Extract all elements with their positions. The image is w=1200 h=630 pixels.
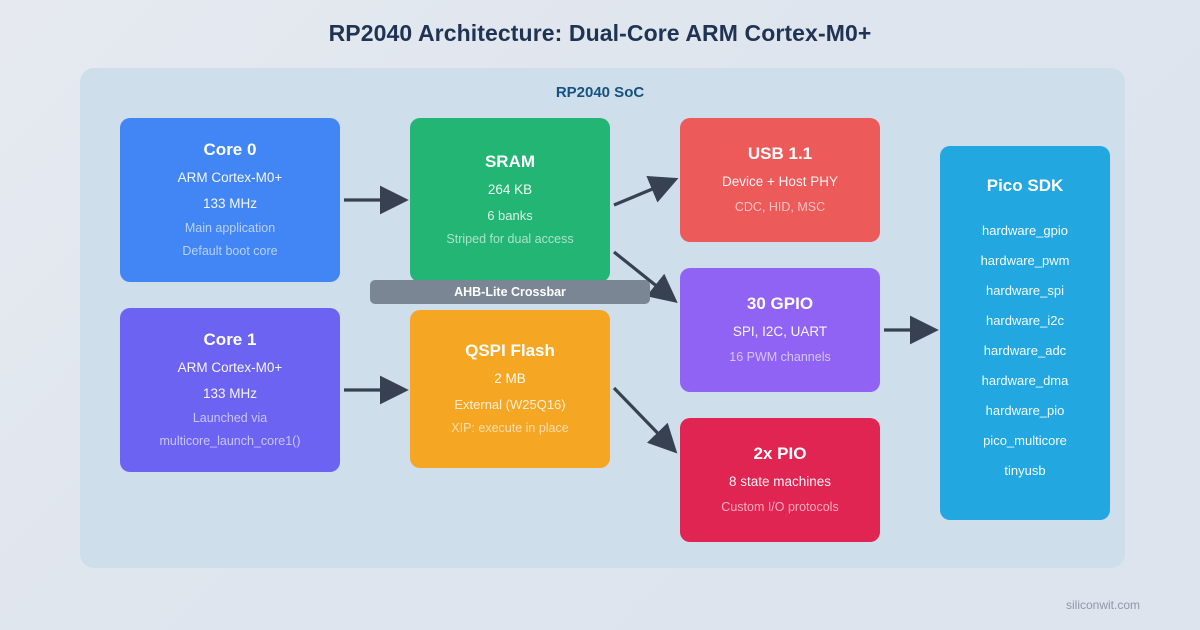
soc-label: RP2040 SoC bbox=[0, 84, 1200, 101]
pico-sdk-item[interactable]: hardware_i2c bbox=[981, 314, 1070, 327]
block-core0-line2: 133 MHz bbox=[203, 197, 257, 212]
block-core1[interactable]: Core 1 ARM Cortex-M0+ 133 MHz Launched v… bbox=[120, 308, 340, 472]
block-gpio-note1: 16 PWM channels bbox=[729, 351, 830, 365]
block-qspi-line1: 2 MB bbox=[494, 372, 526, 387]
pico-sdk-item[interactable]: pico_multicore bbox=[981, 434, 1070, 447]
block-qspi-line2: External (W25Q16) bbox=[454, 398, 565, 412]
block-qspi-note1: XIP: execute in place bbox=[451, 422, 568, 436]
block-sram[interactable]: SRAM 264 KB 6 banks Striped for dual acc… bbox=[410, 118, 610, 282]
block-sram-note1: Striped for dual access bbox=[446, 233, 573, 247]
block-usb[interactable]: USB 1.1 Device + Host PHY CDC, HID, MSC bbox=[680, 118, 880, 242]
pico-sdk-title: Pico SDK bbox=[987, 176, 1064, 196]
block-sram-line2: 6 banks bbox=[487, 209, 533, 223]
pico-sdk-item[interactable]: tinyusb bbox=[981, 464, 1070, 477]
block-core0-note1: Main application bbox=[185, 222, 275, 236]
block-gpio[interactable]: 30 GPIO SPI, I2C, UART 16 PWM channels bbox=[680, 268, 880, 392]
pico-sdk-item[interactable]: hardware_gpio bbox=[981, 224, 1070, 237]
block-core1-note2: multicore_launch_core1() bbox=[159, 435, 300, 449]
block-qspi-title: QSPI Flash bbox=[465, 342, 555, 361]
block-core0-line1: ARM Cortex-M0+ bbox=[178, 171, 283, 186]
block-core1-line2: 133 MHz bbox=[203, 387, 257, 402]
block-core0-title: Core 0 bbox=[204, 141, 257, 160]
block-core0-note2: Default boot core bbox=[182, 245, 277, 259]
block-core1-note1: Launched via bbox=[193, 412, 267, 426]
diagram-canvas: RP2040 Architecture: Dual-Core ARM Corte… bbox=[0, 0, 1200, 630]
block-usb-note1: CDC, HID, MSC bbox=[735, 201, 825, 215]
pico-sdk-item[interactable]: hardware_adc bbox=[981, 344, 1070, 357]
block-gpio-line1: SPI, I2C, UART bbox=[733, 325, 827, 340]
block-pio[interactable]: 2x PIO 8 state machines Custom I/O proto… bbox=[680, 418, 880, 542]
crossbar-label: AHB-Lite Crossbar bbox=[454, 285, 566, 299]
block-pio-note1: Custom I/O protocols bbox=[721, 501, 838, 515]
block-core0[interactable]: Core 0 ARM Cortex-M0+ 133 MHz Main appli… bbox=[120, 118, 340, 282]
pico-sdk-item[interactable]: hardware_pwm bbox=[981, 254, 1070, 267]
page-title: RP2040 Architecture: Dual-Core ARM Corte… bbox=[0, 20, 1200, 47]
block-usb-title: USB 1.1 bbox=[748, 145, 812, 164]
block-core1-line1: ARM Cortex-M0+ bbox=[178, 361, 283, 376]
pico-sdk-item[interactable]: hardware_pio bbox=[981, 404, 1070, 417]
pico-sdk-list: hardware_gpiohardware_pwmhardware_spihar… bbox=[981, 224, 1070, 494]
block-qspi-flash[interactable]: QSPI Flash 2 MB External (W25Q16) XIP: e… bbox=[410, 310, 610, 468]
ahb-lite-crossbar-bar[interactable]: AHB-Lite Crossbar bbox=[370, 280, 650, 304]
pico-sdk-item[interactable]: hardware_dma bbox=[981, 374, 1070, 387]
block-gpio-title: 30 GPIO bbox=[747, 295, 813, 314]
footer-watermark: siliconwit.com bbox=[1066, 598, 1140, 612]
panel-pico-sdk[interactable]: Pico SDK hardware_gpiohardware_pwmhardwa… bbox=[940, 146, 1110, 520]
block-sram-line1: 264 KB bbox=[488, 183, 532, 198]
block-pio-title: 2x PIO bbox=[754, 445, 807, 464]
block-sram-title: SRAM bbox=[485, 153, 535, 172]
block-pio-line1: 8 state machines bbox=[729, 475, 831, 490]
pico-sdk-item[interactable]: hardware_spi bbox=[981, 284, 1070, 297]
block-usb-line1: Device + Host PHY bbox=[722, 175, 838, 190]
block-core1-title: Core 1 bbox=[204, 331, 257, 350]
